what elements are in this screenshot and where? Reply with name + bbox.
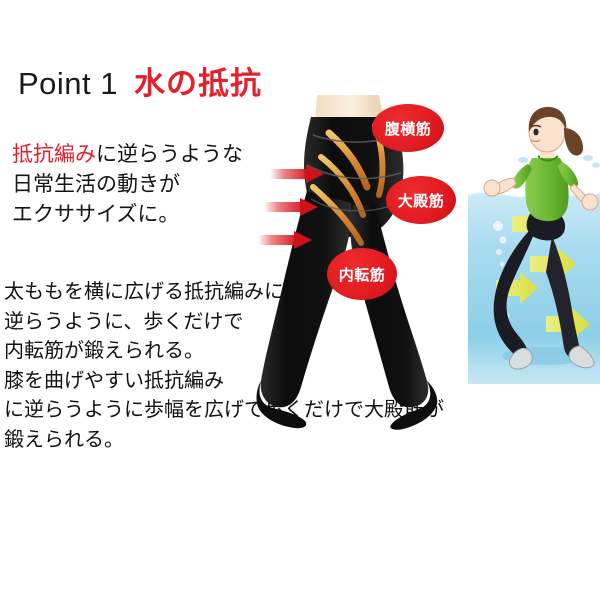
muscle-badge-naitenkin: 内転筋	[327, 248, 397, 300]
muscle-badge-label: 内転筋	[339, 264, 386, 285]
muscle-badge-label: 大殿筋	[398, 190, 445, 211]
bubble-icon	[500, 262, 505, 267]
splash-fleck	[592, 163, 600, 168]
water-walking-panel	[468, 88, 600, 384]
left-fist	[484, 180, 500, 196]
lead-highlight: 抵抗編み	[12, 143, 96, 166]
arrow-right-icon	[258, 231, 316, 248]
page-title: Point 1水の抵抗	[18, 68, 262, 99]
water-panel-svg	[468, 88, 600, 384]
splash-fleck	[518, 157, 528, 163]
right-leg-tights	[350, 205, 428, 407]
bubble-icon	[500, 237, 507, 244]
arrow-right-icon	[270, 165, 328, 182]
eye	[533, 129, 538, 136]
body-line-6: 鍛えられる。	[4, 426, 504, 456]
point-label: Point 1	[18, 66, 118, 101]
arrow-right-icon	[264, 198, 322, 215]
resistance-arrows	[268, 165, 338, 260]
poster-canvas: Point 1水の抵抗 抵抗編みに逆らうような 日常生活の動きが エクササイズに…	[0, 0, 600, 600]
title-text: 水の抵抗	[134, 66, 262, 101]
muscle-badge-fukuokokin: 腹横筋	[372, 104, 444, 152]
lead-line-1-rest: に逆らうような	[96, 143, 243, 166]
muscle-badge-daidenkin: 大殿筋	[386, 176, 456, 224]
bubble-icon	[496, 249, 502, 255]
muscle-badge-label: 腹横筋	[385, 118, 432, 139]
right-fist	[582, 194, 598, 210]
bubble-icon	[493, 221, 503, 231]
splash-fleck	[583, 155, 593, 161]
